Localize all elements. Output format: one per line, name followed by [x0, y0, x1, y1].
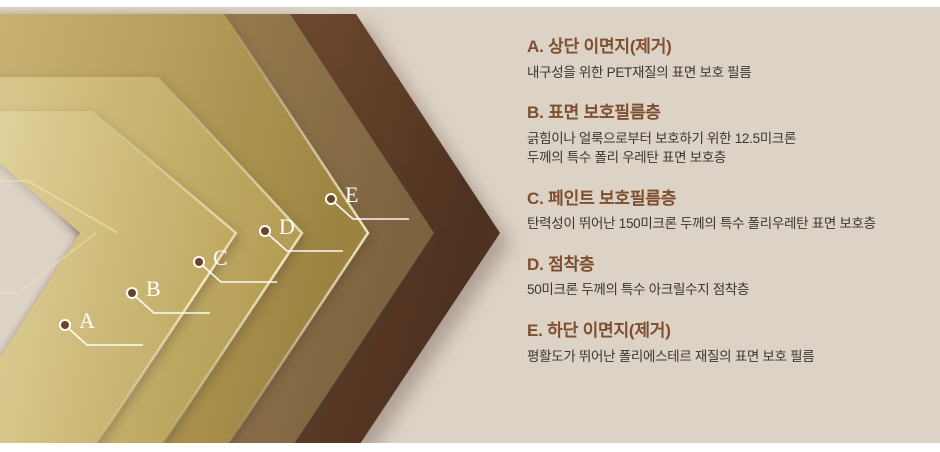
marker-dot-B — [126, 287, 138, 299]
artboard: A B C D E — [0, 7, 940, 443]
marker-dot-D — [259, 225, 271, 237]
marker-dot-A — [59, 319, 71, 331]
legend-desc-line: 긁힘이나 얼룩으로부터 보호하기 위한 12.5미크론 — [527, 129, 927, 149]
legend-item-c: C. 페인트 보호필름층 탄력성이 뛰어난 150미크론 두께의 특수 폴리우레… — [527, 189, 927, 234]
legend-desc-line: 두께의 특수 폴리 우레탄 표면 보호층 — [527, 148, 927, 168]
marker-label-C: C — [213, 247, 228, 269]
legend-desc-c: 탄력성이 뛰어난 150미크론 두께의 특수 폴리우레탄 표면 보호층 — [527, 214, 927, 234]
legend-item-d: D. 점착층 50미크론 두께의 특수 아크릴수지 점착층 — [527, 255, 927, 300]
marker-label-B: B — [146, 278, 161, 300]
legend-title-e: E. 하단 이면지(제거) — [527, 321, 927, 341]
marker-label-A: A — [79, 310, 95, 332]
legend-title-c: C. 페인트 보호필름층 — [527, 189, 927, 209]
legend-item-a: A. 상단 이면지(제거) 내구성을 위한 PET재질의 표면 보호 필름 — [527, 37, 927, 82]
legend-title-a: A. 상단 이면지(제거) — [527, 37, 927, 57]
marker-dot-E — [325, 193, 337, 205]
legend-desc-a: 내구성을 위한 PET재질의 표면 보호 필름 — [527, 63, 927, 83]
legend-desc-line: 내구성을 위한 PET재질의 표면 보호 필름 — [527, 63, 927, 83]
marker-label-D: D — [279, 216, 295, 238]
legend-desc-line: 50미크론 두께의 특수 아크릴수지 점착층 — [527, 280, 927, 300]
slide-canvas: A B C D E — [0, 0, 940, 452]
legend-desc-d: 50미크론 두께의 특수 아크릴수지 점착층 — [527, 280, 927, 300]
legend-desc-line: 탄력성이 뛰어난 150미크론 두께의 특수 폴리우레탄 표면 보호층 — [527, 214, 927, 234]
chevron-stack-svg — [0, 7, 540, 443]
legend-title-b: B. 표면 보호필름층 — [527, 103, 927, 123]
legend-item-e: E. 하단 이면지(제거) 평활도가 뛰어난 폴리에스테르 재질의 표면 보호 … — [527, 321, 927, 366]
marker-dot-C — [193, 256, 205, 268]
legend-desc-line: 평활도가 뛰어난 폴리에스테르 재질의 표면 보호 필름 — [527, 347, 927, 367]
legend-title-d: D. 점착층 — [527, 255, 927, 275]
legend-item-b: B. 표면 보호필름층 긁힘이나 얼룩으로부터 보호하기 위한 12.5미크론 … — [527, 103, 927, 168]
layer-stack-diagram — [0, 7, 520, 443]
legend-desc-b: 긁힘이나 얼룩으로부터 보호하기 위한 12.5미크론 두께의 특수 폴리 우레… — [527, 129, 927, 168]
marker-label-E: E — [345, 184, 358, 206]
legend-desc-e: 평활도가 뛰어난 폴리에스테르 재질의 표면 보호 필름 — [527, 347, 927, 367]
legend-list: A. 상단 이면지(제거) 내구성을 위한 PET재질의 표면 보호 필름 B.… — [527, 37, 927, 366]
